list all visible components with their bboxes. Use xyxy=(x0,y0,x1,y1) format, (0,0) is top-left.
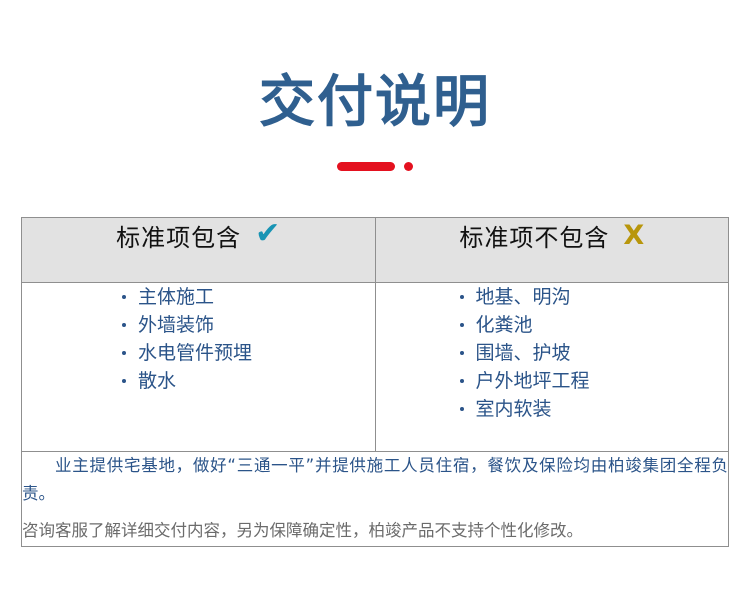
included-header-cell: 标准项包含 ✔ xyxy=(22,217,376,282)
delivery-spec-table: 标准项包含 ✔ 标准项不包含 X 主体施工 外墙装饰 水电管件预埋 散水 xyxy=(21,217,729,547)
excluded-items-list: 地基、明沟 化粪池 围墙、护坡 户外地坪工程 室内软装 xyxy=(376,283,729,424)
table-body-row: 主体施工 外墙装饰 水电管件预埋 散水 地基、明沟 化粪池 围墙、护坡 户外地坪… xyxy=(22,282,729,451)
owner-responsibility-note: 业主提供宅基地，做好“三通一平”并提供施工人员住宿，餐饮及保险均由柏竣集团全程负… xyxy=(22,452,728,509)
check-icon: ✔ xyxy=(255,219,280,249)
included-items-list: 主体施工 外墙装饰 水电管件预埋 散水 xyxy=(22,283,375,395)
list-item: 主体施工 xyxy=(122,283,375,311)
list-item: 化粪池 xyxy=(460,311,729,339)
notes-cell: 业主提供宅基地，做好“三通一平”并提供施工人员住宿，餐饮及保险均由柏竣集团全程负… xyxy=(22,451,729,546)
title-divider xyxy=(0,161,750,173)
x-icon: X xyxy=(623,222,644,249)
divider-bar-icon xyxy=(337,162,395,171)
list-item: 户外地坪工程 xyxy=(460,367,729,395)
list-item: 围墙、护坡 xyxy=(460,339,729,367)
included-items-cell: 主体施工 外墙装饰 水电管件预埋 散水 xyxy=(22,282,376,451)
list-item: 散水 xyxy=(122,367,375,395)
table-header-row: 标准项包含 ✔ 标准项不包含 X xyxy=(22,217,729,282)
excluded-header-label: 标准项不包含 xyxy=(459,218,609,253)
list-item: 室内软装 xyxy=(460,395,729,423)
included-header-label: 标准项包含 xyxy=(116,218,241,253)
page-title: 交付说明 xyxy=(0,72,750,135)
customer-service-note: 咨询客服了解详细交付内容，另为保障确定性，柏竣产品不支持个性化修改。 xyxy=(22,517,728,545)
page-header: 交付说明 xyxy=(0,0,750,173)
excluded-items-cell: 地基、明沟 化粪池 围墙、护坡 户外地坪工程 室内软装 xyxy=(375,282,729,451)
list-item: 外墙装饰 xyxy=(122,311,375,339)
divider-dot-icon xyxy=(404,162,413,171)
list-item: 水电管件预埋 xyxy=(122,339,375,367)
list-item: 地基、明沟 xyxy=(460,283,729,311)
excluded-header-cell: 标准项不包含 X xyxy=(375,217,729,282)
table-notes-row: 业主提供宅基地，做好“三通一平”并提供施工人员住宿，餐饮及保险均由柏竣集团全程负… xyxy=(22,451,729,546)
